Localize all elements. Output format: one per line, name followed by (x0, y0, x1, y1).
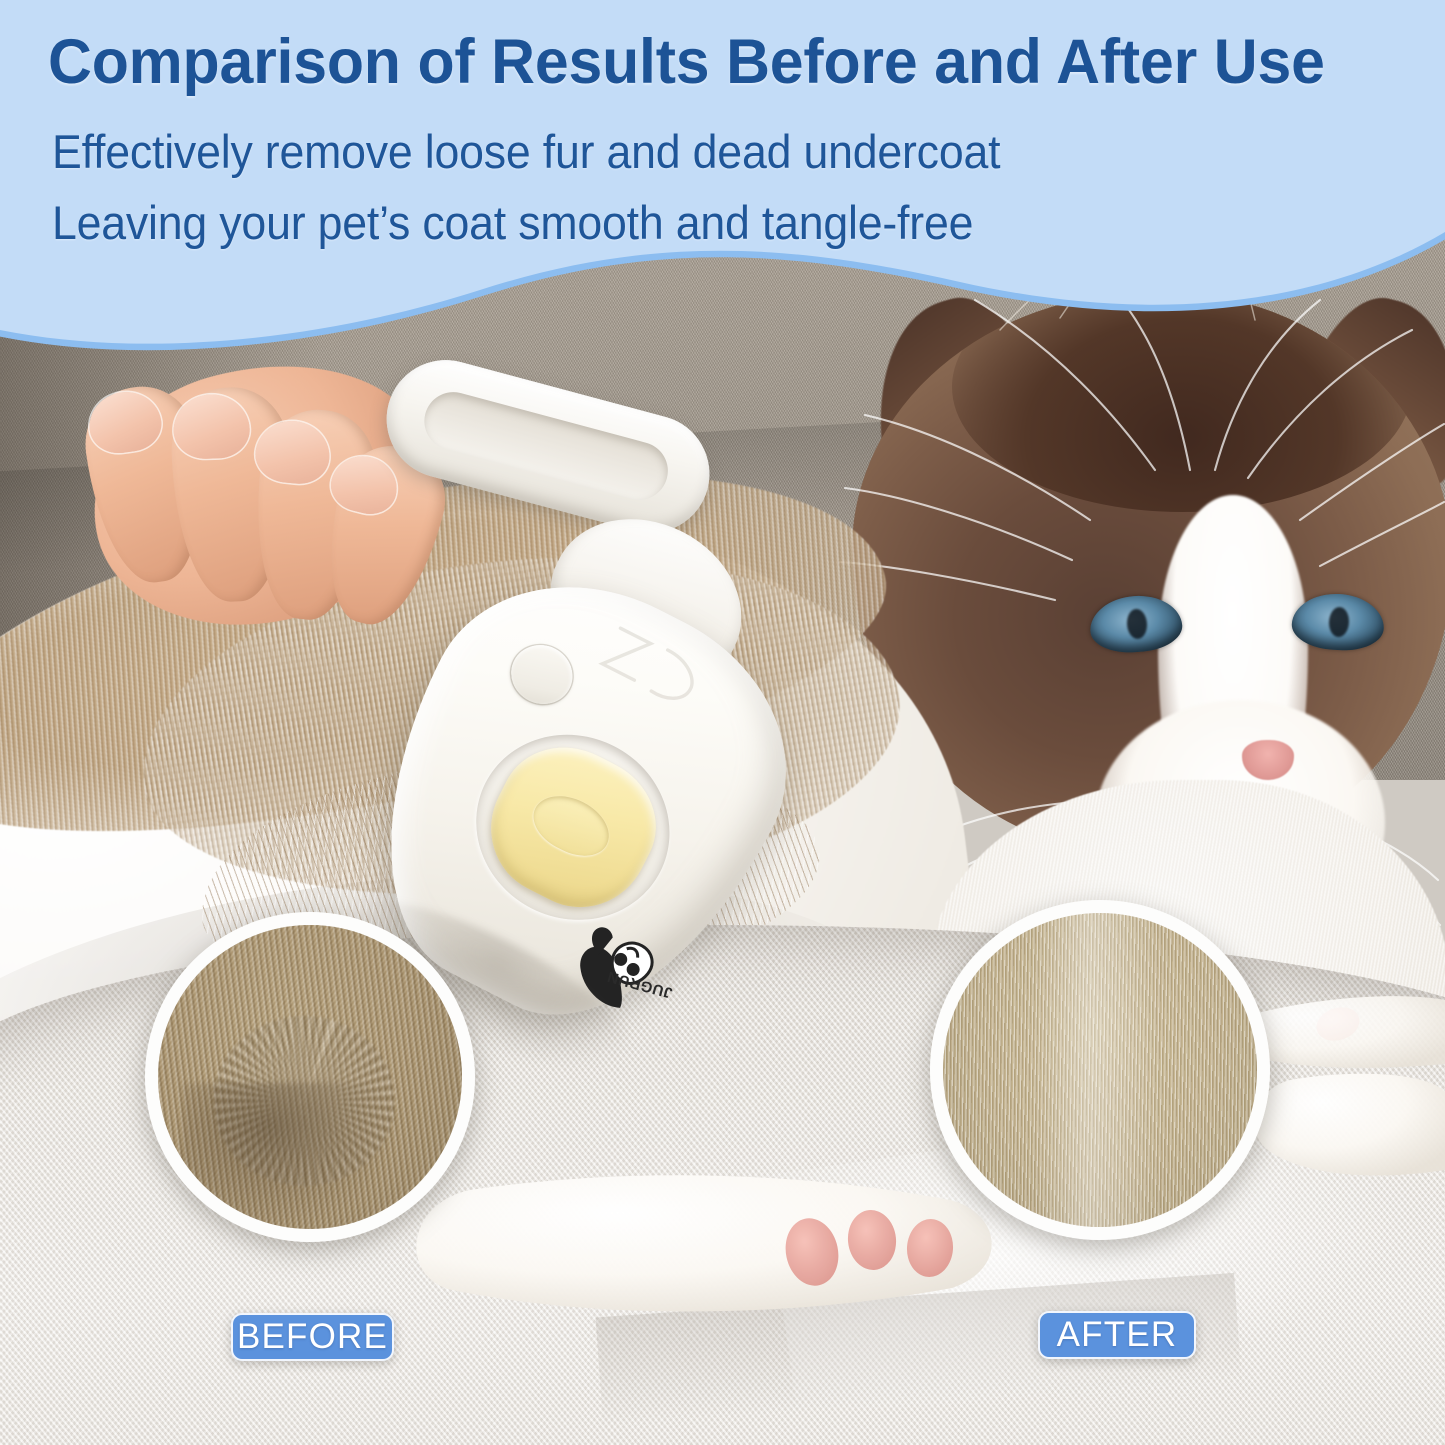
after-fur-detail (943, 913, 1257, 1227)
after-zoom-circle (930, 900, 1270, 1240)
after-label-badge: AFTER (1038, 1311, 1196, 1359)
before-fur-shadow (182, 1083, 395, 1229)
after-fur-sheen (1031, 900, 1163, 1240)
before-label-badge: BEFORE (231, 1313, 394, 1361)
product-photo: JUGRUN BEFORE AFTER (0, 0, 1445, 1445)
before-fur-detail (158, 925, 462, 1229)
before-zoom-circle (145, 912, 475, 1242)
product-comparison-image: JUGRUN BEFORE AFTER (0, 0, 1445, 1445)
